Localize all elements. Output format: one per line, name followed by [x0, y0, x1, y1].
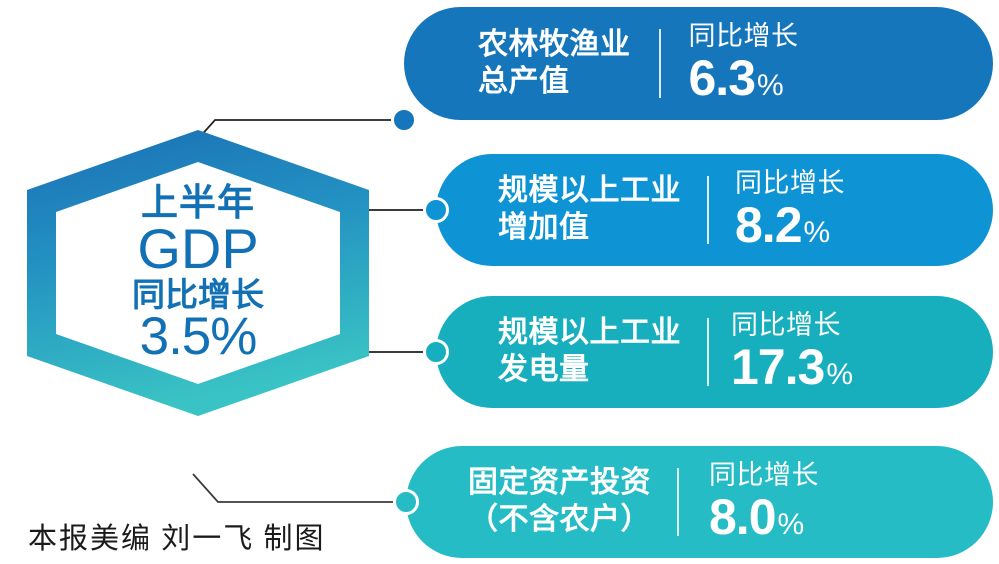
- node-dot-card-1: [391, 107, 417, 133]
- card-divider: [659, 29, 661, 98]
- growth-label: 同比增长: [709, 461, 819, 489]
- growth-label: 同比增长: [735, 169, 845, 197]
- growth-value: 8.0: [709, 491, 776, 544]
- stat-card-agriculture[interactable]: 农林牧渔业 总产值 同比增长 6.3 %: [404, 7, 993, 120]
- stat-card-growth: 同比增长 8.2 %: [735, 169, 845, 252]
- gdp-hexagon: 上半年 GDP 同比增长 3.5%: [24, 128, 372, 418]
- node-dot-card-4: [393, 489, 419, 515]
- growth-value: 6.3: [689, 52, 756, 105]
- stat-card-industrial-power-generation[interactable]: 规模以上工业 发电量 同比增长 17.3 %: [436, 296, 993, 408]
- growth-value-row: 8.2 %: [735, 199, 830, 252]
- hexagon-line-2: GDP: [137, 221, 258, 277]
- hexagon-text-block: 上半年 GDP 同比增长 3.5%: [24, 128, 372, 418]
- growth-label: 同比增长: [689, 22, 799, 50]
- percent-sign: %: [757, 70, 784, 102]
- stat-card-growth: 同比增长 8.0 %: [709, 461, 819, 544]
- stat-card-industrial-value-added[interactable]: 规模以上工业 增加值 同比增长 8.2 %: [436, 154, 993, 266]
- stat-card-growth: 同比增长 17.3 %: [731, 311, 853, 394]
- hexagon-line-4: 3.5%: [140, 310, 257, 363]
- node-dot-card-2: [423, 197, 449, 223]
- card-divider: [707, 176, 709, 244]
- stat-card-label: 规模以上工业 增加值: [498, 173, 681, 246]
- hexagon-line-1: 上半年: [141, 184, 255, 221]
- credit-line: 本报美编 刘一飞 制图: [28, 515, 326, 557]
- percent-sign: %: [804, 217, 831, 249]
- growth-label: 同比增长: [731, 311, 841, 339]
- connector-line-card-4: [193, 474, 406, 502]
- growth-value-row: 17.3 %: [731, 341, 853, 394]
- stat-card-label: 规模以上工业 发电量: [498, 315, 681, 388]
- hexagon-line-3: 同比增长: [132, 278, 264, 311]
- stat-card-growth: 同比增长 6.3 %: [689, 22, 799, 105]
- node-dot-card-3: [423, 339, 449, 365]
- card-divider: [677, 468, 679, 536]
- infographic-canvas: 上半年 GDP 同比增长 3.5% 农林牧渔业 总产值 同比增长 6.3 % 规…: [0, 0, 999, 564]
- percent-sign: %: [826, 359, 853, 391]
- stat-card-fixed-asset-investment[interactable]: 固定资产投资 （不含农户） 同比增长 8.0 %: [406, 446, 993, 558]
- percent-sign: %: [778, 509, 805, 541]
- stat-card-label: 农林牧渔业 总产值: [478, 27, 631, 100]
- growth-value: 17.3: [731, 341, 824, 394]
- growth-value: 8.2: [735, 199, 802, 252]
- card-divider: [707, 318, 709, 386]
- growth-value-row: 8.0 %: [709, 491, 804, 544]
- growth-value-row: 6.3 %: [689, 52, 784, 105]
- stat-card-label: 固定资产投资 （不含农户）: [468, 465, 651, 538]
